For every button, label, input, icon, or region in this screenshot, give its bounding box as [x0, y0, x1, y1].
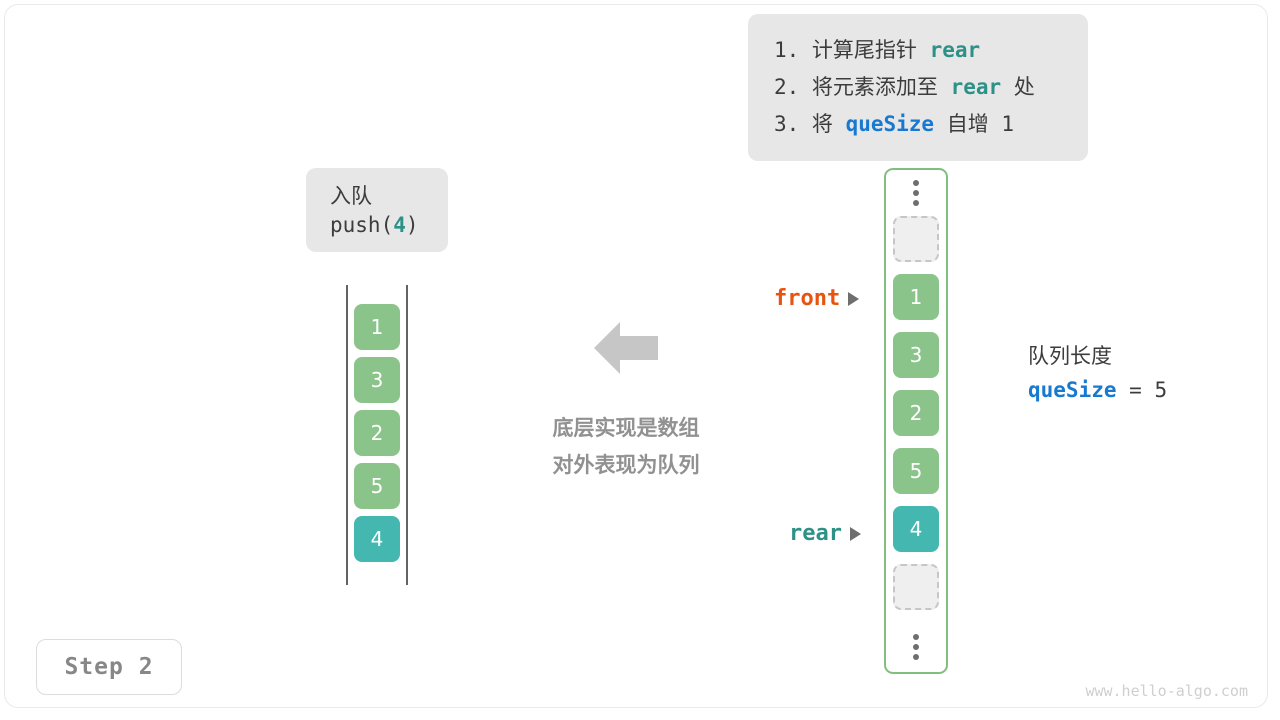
queue-cells: 1 3 2 5 4 [354, 304, 400, 569]
queue-cell: 4 [354, 516, 400, 562]
diagram-caption: 底层实现是数组 对外表现为队列 [528, 410, 724, 484]
rear-pointer-label: rear [789, 521, 861, 546]
queue-cell: 2 [354, 410, 400, 456]
instruction-line-3: 3. 将 queSize 自增 1 [774, 106, 1064, 143]
queue-view: 1 3 2 5 4 [346, 285, 408, 585]
array-cell: 5 [893, 448, 939, 494]
array-view: 1 3 2 5 4 [884, 168, 948, 674]
left-arrow-icon [594, 320, 658, 376]
queue-rail-left [346, 285, 348, 585]
queue-cell: 5 [354, 463, 400, 509]
caption-line-1: 底层实现是数组 [528, 410, 724, 447]
operation-title: 入队 [330, 182, 448, 210]
array-cells: 1 3 2 5 4 [893, 216, 939, 622]
caption-line-2: 对外表现为队列 [528, 447, 724, 484]
queue-size-title: 队列长度 [1028, 340, 1167, 372]
instruction-3-prefix: 3. 将 [774, 112, 846, 136]
queue-cell: 3 [354, 357, 400, 403]
vertical-ellipsis-icon [886, 170, 946, 216]
queue-cell: 1 [354, 304, 400, 350]
operation-call-prefix: push( [330, 213, 393, 237]
operation-label-panel: 入队 push(4) [306, 168, 448, 252]
pointer-arrow-icon [850, 527, 861, 541]
queue-size-expression: queSize = 5 [1028, 372, 1167, 408]
array-cell: 1 [893, 274, 939, 320]
queue-size-value: 5 [1154, 378, 1167, 402]
instruction-1-prefix: 1. 计算尾指针 [774, 38, 930, 62]
array-cell: 2 [893, 390, 939, 436]
array-cell-empty [893, 564, 939, 610]
array-cell: 3 [893, 332, 939, 378]
instruction-2-prefix: 2. 将元素添加至 [774, 75, 951, 99]
instruction-3-keyword: queSize [846, 112, 935, 136]
instruction-line-2: 2. 将元素添加至 rear 处 [774, 69, 1064, 106]
step-badge: Step 2 [36, 639, 182, 695]
instruction-line-1: 1. 计算尾指针 rear [774, 32, 1064, 69]
diagram-canvas: 1. 计算尾指针 rear 2. 将元素添加至 rear 处 3. 将 queS… [0, 0, 1280, 720]
rear-pointer-text: rear [789, 521, 842, 546]
queue-size-note: 队列长度 queSize = 5 [1028, 340, 1167, 408]
instruction-2-suffix: 处 [1001, 75, 1035, 99]
instruction-1-keyword: rear [930, 38, 981, 62]
instruction-3-suffix: 自增 1 [934, 112, 1014, 136]
instruction-2-keyword: rear [951, 75, 1002, 99]
vertical-ellipsis-icon [886, 624, 946, 670]
watermark: www.hello-algo.com [1085, 682, 1248, 700]
operation-call-suffix: ) [406, 213, 419, 237]
queue-size-equals: = [1117, 378, 1155, 402]
queue-rail-right [406, 285, 408, 585]
pointer-arrow-icon [848, 292, 859, 306]
front-pointer-text: front [774, 286, 840, 311]
instruction-panel: 1. 计算尾指针 rear 2. 将元素添加至 rear 处 3. 将 queS… [748, 14, 1088, 161]
operation-call-arg: 4 [393, 213, 406, 237]
operation-call: push(4) [330, 210, 448, 240]
queue-size-var: queSize [1028, 378, 1117, 402]
front-pointer-label: front [774, 286, 859, 311]
array-cell-empty [893, 216, 939, 262]
array-cell: 4 [893, 506, 939, 552]
